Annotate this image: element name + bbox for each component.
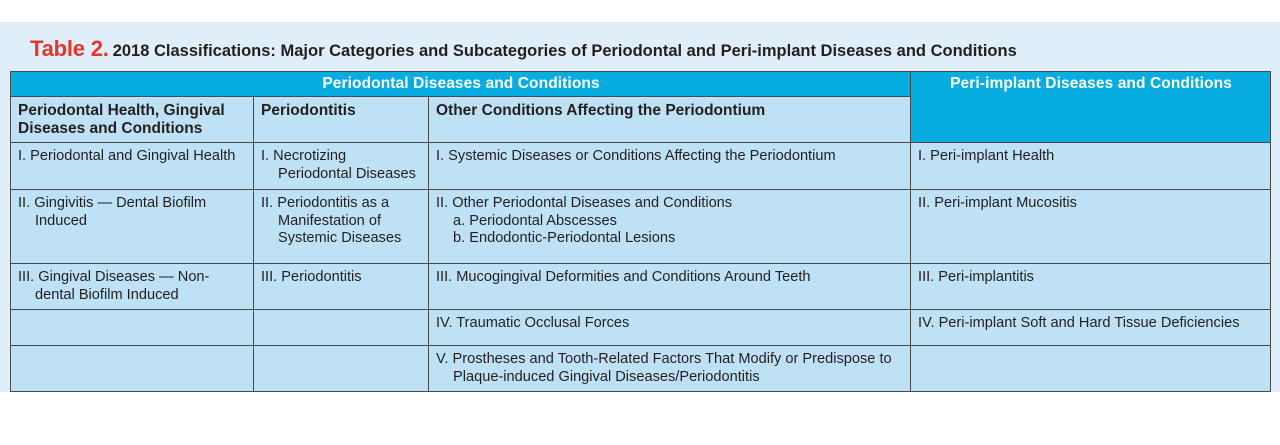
list-item-sub: a. Periodontal Abscesses (436, 213, 904, 231)
cell-periodontitis-2: II. Periodontitis as a Manifestation of … (254, 190, 429, 264)
column-header-periodontitis: Periodontitis (254, 97, 429, 143)
list-item: III. Periodontitis (261, 269, 422, 287)
cell-periodontitis-1: I. Necrotizing Periodontal Diseases (254, 143, 429, 190)
cell-other-3: III. Mucogingival Deformities and Condit… (429, 264, 911, 310)
cell-other-5: V. Prostheses and Tooth-Related Factors … (429, 346, 911, 392)
column-header-other: Other Conditions Affecting the Periodont… (429, 97, 911, 143)
cell-other-2: II. Other Periodontal Diseases and Condi… (429, 190, 911, 264)
list-item: III. Peri-implantitis (918, 269, 1264, 287)
list-item: II. Gingivitis — Dental Biofilm Induced (18, 195, 247, 230)
list-item: II. Other Periodontal Diseases and Condi… (436, 195, 904, 213)
cell-other-4: IV. Traumatic Occlusal Forces (429, 310, 911, 346)
table-row: V. Prostheses and Tooth-Related Factors … (11, 346, 1271, 392)
table-row: II. Gingivitis — Dental Biofilm Induced … (11, 190, 1271, 264)
cell-health-5 (11, 346, 254, 392)
cell-health-2: II. Gingivitis — Dental Biofilm Induced (11, 190, 254, 264)
column-header-health: Periodontal Health, Gingival Diseases an… (11, 97, 254, 143)
cell-periodontitis-4 (254, 310, 429, 346)
list-item: IV. Peri-implant Soft and Hard Tissue De… (918, 315, 1264, 333)
list-item: I. Peri-implant Health (918, 148, 1264, 166)
cell-peri-implant-4: IV. Peri-implant Soft and Hard Tissue De… (911, 310, 1271, 346)
list-item: IV. Traumatic Occlusal Forces (436, 315, 904, 333)
table-group-header-row: Periodontal Diseases and Conditions Peri… (11, 72, 1271, 97)
group-header-periodontal: Periodontal Diseases and Conditions (11, 72, 911, 97)
cell-peri-implant-3: III. Peri-implantitis (911, 264, 1271, 310)
cell-peri-implant-2: II. Peri-implant Mucositis (911, 190, 1271, 264)
table-row: IV. Traumatic Occlusal Forces IV. Peri-i… (11, 310, 1271, 346)
classification-table: Periodontal Diseases and Conditions Peri… (10, 71, 1271, 392)
list-item: V. Prostheses and Tooth-Related Factors … (436, 351, 904, 386)
table-body: I. Periodontal and Gingival Health I. Ne… (11, 143, 1271, 392)
table-caption-text: 2018 Classifications: Major Categories a… (113, 42, 1017, 60)
cell-periodontitis-5 (254, 346, 429, 392)
list-item: I. Systemic Diseases or Conditions Affec… (436, 148, 904, 166)
cell-periodontitis-3: III. Periodontitis (254, 264, 429, 310)
list-item: III. Mucogingival Deformities and Condit… (436, 269, 904, 287)
list-item-sub: b. Endodontic-Periodontal Lesions (436, 230, 904, 248)
table-row: III. Gingival Diseases — Non-dental Biof… (11, 264, 1271, 310)
table-number: Table 2. (30, 36, 109, 61)
table-figure: Table 2.2018 Classifications: Major Cate… (0, 22, 1280, 392)
list-item: I. Periodontal and Gingival Health (18, 148, 247, 166)
cell-other-1: I. Systemic Diseases or Conditions Affec… (429, 143, 911, 190)
table-row: I. Periodontal and Gingival Health I. Ne… (11, 143, 1271, 190)
list-item: III. Gingival Diseases — Non-dental Biof… (18, 269, 247, 304)
group-header-peri-implant: Peri-implant Diseases and Conditions (911, 72, 1271, 143)
cell-health-3: III. Gingival Diseases — Non-dental Biof… (11, 264, 254, 310)
cell-peri-implant-5 (911, 346, 1271, 392)
list-item: II. Peri-implant Mucositis (918, 195, 1264, 213)
list-item: II. Periodontitis as a Manifestation of … (261, 195, 422, 248)
cell-peri-implant-1: I. Peri-implant Health (911, 143, 1271, 190)
table-caption: Table 2.2018 Classifications: Major Cate… (0, 22, 1280, 71)
cell-health-4 (11, 310, 254, 346)
list-item: I. Necrotizing Periodontal Diseases (261, 148, 422, 183)
cell-health-1: I. Periodontal and Gingival Health (11, 143, 254, 190)
